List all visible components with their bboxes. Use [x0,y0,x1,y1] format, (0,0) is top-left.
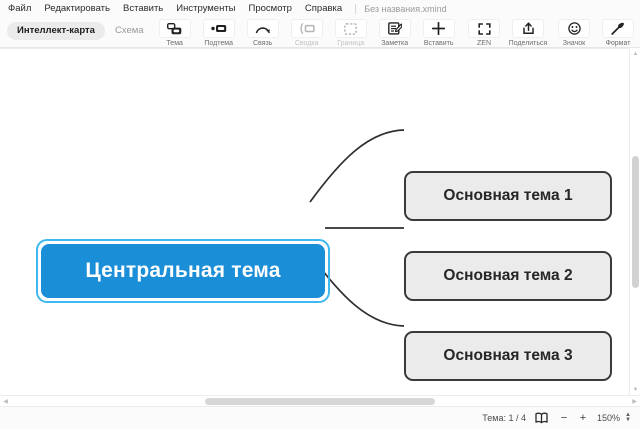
toolbar-button-relation[interactable]: Связь [241,17,285,47]
toolbar-label-zen: ZEN [477,40,491,47]
branch-topic-node-3[interactable]: Основная тема 3 [404,331,612,381]
format-icon [602,19,634,38]
mode-switcher: Интеллект-карта Схема [7,22,152,40]
topic-icon [159,19,191,38]
toolbar-label-relation: Связь [253,40,272,47]
vertical-scrollbar[interactable]: ▲ ▼ [629,48,640,395]
toolbar-button-format[interactable]: Формат [596,17,640,47]
relation-icon [247,19,279,38]
branch-topic-label-1: Основная тема 1 [443,187,572,205]
menu-help[interactable]: Справка [305,3,342,14]
toolbar-label-share: Поделиться [509,40,548,47]
toolbar-button-summary[interactable]: Сводка [285,17,329,47]
toolbar-button-boundary[interactable]: Граница [329,17,373,47]
branch-topic-node-1[interactable]: Основная тема 1 [404,171,612,221]
horizontal-scrollbar[interactable]: ◀ ▶ [0,395,640,406]
toolbar-label-subtopic: Подтема [204,40,233,47]
toolbar-label-note: Заметка [381,40,408,47]
horizontal-scroll-thumb[interactable] [205,398,435,405]
document-title: Без названия.xmind [364,4,446,14]
toolbar-label-boundary: Граница [337,40,364,47]
zen-icon [468,19,500,38]
branch-topic-label-2: Основная тема 2 [443,267,572,285]
central-topic-label: Центральная тема [85,259,280,283]
zoom-in-button[interactable]: + [578,412,588,424]
menu-edit[interactable]: Редактировать [44,3,110,14]
central-topic-node[interactable]: Центральная тема [41,244,325,298]
plus-icon [423,19,455,38]
xmind-window: Файл Редактировать Вставить Инструменты … [0,0,640,429]
note-icon [379,19,411,38]
sticker-icon [558,19,590,38]
stepper-down-icon[interactable]: ▼ [625,418,631,423]
tab-mindmap[interactable]: Интеллект-карта [7,22,105,40]
zoom-out-button[interactable]: − [559,412,569,424]
toolbar-group-view: ZEN Поделиться [462,17,550,47]
toolbar-label-format: Формат [606,40,631,47]
branch-topic-node-2[interactable]: Основная тема 2 [404,251,612,301]
menu-file[interactable]: Файл [8,3,31,14]
status-bar: Тема: 1 / 4 − + 150% ▲ ▼ [0,406,640,429]
menu-bar: Файл Редактировать Вставить Инструменты … [0,0,640,17]
menu-insert[interactable]: Вставить [123,3,163,14]
branch-topic-label-3: Основная тема 3 [443,347,572,365]
boundary-icon [335,19,367,38]
subtopic-icon [203,19,235,38]
toolbar-button-share[interactable]: Поделиться [506,17,550,47]
toolbar-button-insert[interactable]: Вставить [417,17,461,47]
toolbar-label-sticker: Значок [563,40,585,47]
menu-tools[interactable]: Инструменты [176,3,235,14]
mindmap-canvas[interactable]: Центральная тема Основная тема 1 Основна… [0,48,640,395]
toolbar-label-summary: Сводка [295,40,319,47]
menu-divider [355,4,356,14]
scroll-up-icon[interactable]: ▲ [630,48,640,59]
toolbar-button-note[interactable]: Заметка [373,17,417,47]
toolbar-button-subtopic[interactable]: Подтема [197,17,241,47]
zoom-level-label: 150% [597,413,620,423]
zoom-stepper[interactable]: ▲ ▼ [625,413,631,423]
toolbar: Интеллект-карта Схема Тема [0,17,640,48]
toolbar-label-insert: Вставить [424,40,454,47]
vertical-scroll-thumb[interactable] [632,156,639,288]
toolbar-button-sticker[interactable]: Значок [552,17,596,47]
share-icon [512,19,544,38]
scroll-down-icon[interactable]: ▼ [630,384,640,395]
toolbar-button-zen[interactable]: ZEN [462,17,506,47]
toolbar-group-panels: Значок Формат [552,17,640,47]
topic-count-label: Тема: 1 / 4 [482,413,526,423]
toolbar-label-topic: Тема [166,40,182,47]
tab-outline[interactable]: Схема [105,22,152,40]
summary-icon [291,19,323,38]
toolbar-button-topic[interactable]: Тема [153,17,197,47]
toolbar-group-structure: Тема Подтема [153,17,461,47]
book-map-icon[interactable] [535,412,548,424]
menu-view[interactable]: Просмотр [249,3,292,14]
